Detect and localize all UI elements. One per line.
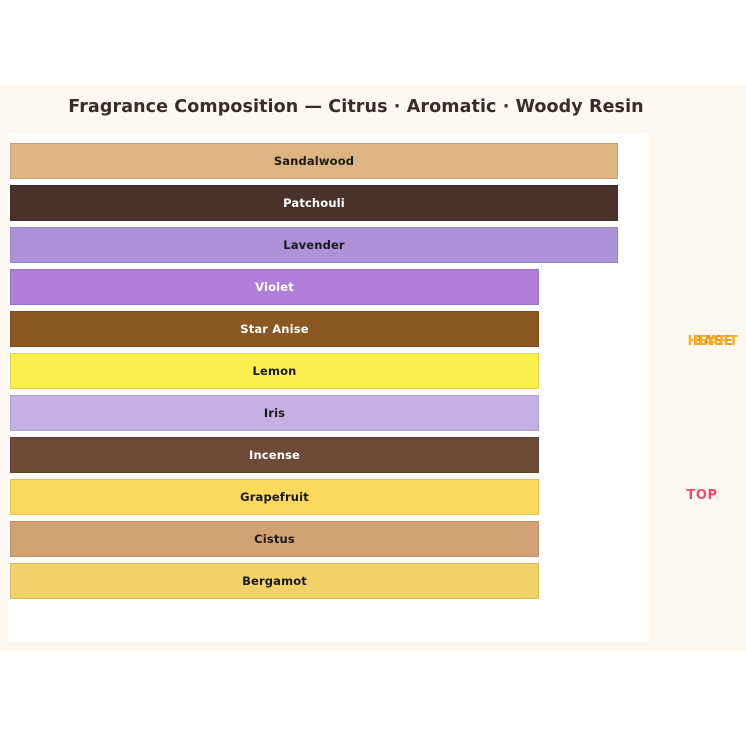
stage-annotation-top: TOP [642,488,746,503]
bar-label: Grapefruit [240,490,309,504]
bars-layer: SandalwoodPatchouliLavenderVioletStar An… [0,85,746,651]
bar-label: Iris [264,406,285,420]
bar-iris[interactable]: Iris [10,395,539,431]
bar-bergamot[interactable]: Bergamot [10,563,539,599]
bar-label: Violet [255,280,294,294]
bar-label: Sandalwood [274,154,354,168]
bar-label: Lavender [283,238,344,252]
bar-label: Bergamot [242,574,307,588]
bar-label: Star Anise [240,322,308,336]
bar-cistus[interactable]: Cistus [10,521,539,557]
chart-figure: Fragrance Composition — Citrus · Aromati… [0,85,746,651]
bar-incense[interactable]: Incense [10,437,539,473]
stage-annotation-heart: HEART [653,334,746,349]
bar-label: Patchouli [283,196,345,210]
bar-label: Lemon [253,364,297,378]
bar-grapefruit[interactable]: Grapefruit [10,479,539,515]
bar-patchouli[interactable]: Patchouli [10,185,618,221]
bar-lavender[interactable]: Lavender [10,227,618,263]
bar-lemon[interactable]: Lemon [10,353,539,389]
bar-star-anise[interactable]: Star Anise [10,311,539,347]
bar-label: Incense [249,448,300,462]
bar-sandalwood[interactable]: Sandalwood [10,143,618,179]
bar-label: Cistus [254,532,295,546]
bar-violet[interactable]: Violet [10,269,539,305]
